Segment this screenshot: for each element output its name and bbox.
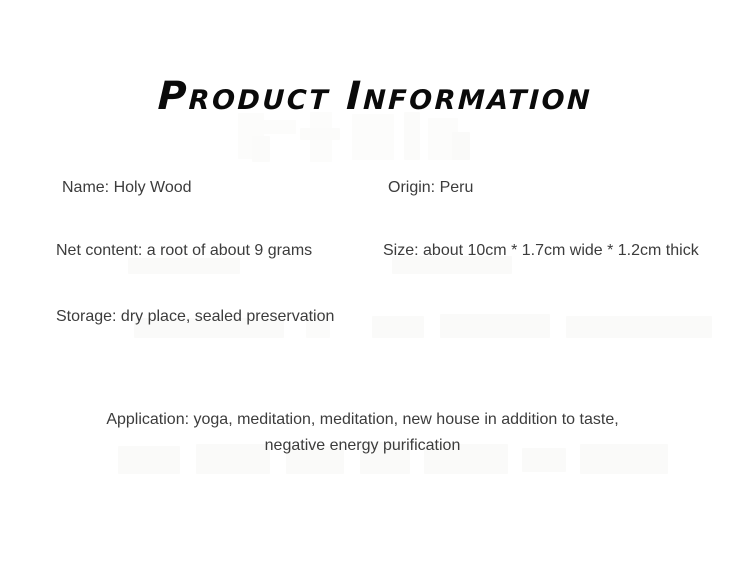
spec-name: Name: Holy Wood xyxy=(62,176,192,200)
spec-size: Size: about 10cm * 1.7cm wide * 1.2cm th… xyxy=(383,239,699,263)
spec-row: Name: Holy Wood Origin: Peru xyxy=(0,176,750,200)
spec-row: Storage: dry place, sealed preservation xyxy=(0,305,750,329)
product-information-page: Product Information Name: Holy Wood Orig… xyxy=(0,0,750,571)
spec-row: Net content: a root of about 9 grams Siz… xyxy=(0,239,750,263)
page-title: Product Information xyxy=(0,73,750,121)
application-line-1: Application: yoga, meditation, meditatio… xyxy=(106,411,575,428)
spec-storage: Storage: dry place, sealed preservation xyxy=(56,305,334,329)
application-text: Application: yoga, meditation, meditatio… xyxy=(95,407,630,459)
spec-origin: Origin: Peru xyxy=(388,176,473,200)
spec-net-content: Net content: a root of about 9 grams xyxy=(56,239,312,263)
